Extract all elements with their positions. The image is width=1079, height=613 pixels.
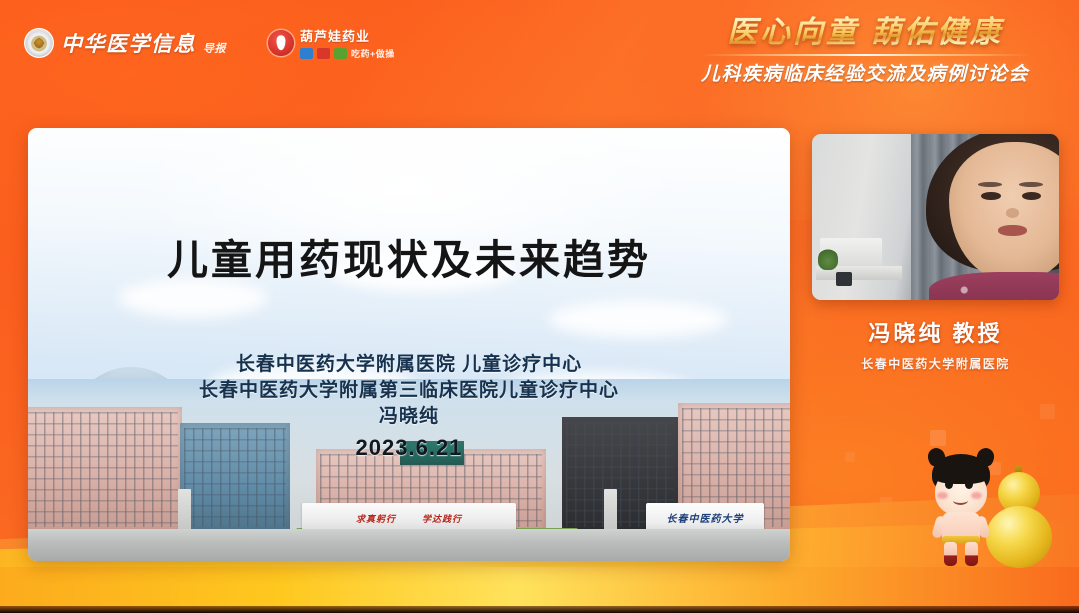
speaker-eye-left [981, 192, 1001, 200]
video-speaker-figure [926, 134, 1059, 300]
event-banner-title: 医心向童葫佑健康 [669, 16, 1061, 50]
event-banner-title-part1: 医心向童 [727, 16, 859, 49]
speaker-eye-right [1022, 192, 1042, 200]
slide-presenter-name: 冯晓纯 [199, 404, 619, 430]
mascot-smile [953, 496, 968, 505]
slide-date: 2023.6.21 [199, 433, 619, 463]
logo-huluwa: 葫芦娃药业 吃药+做操 [268, 26, 395, 60]
speaker-brow-right [1019, 182, 1043, 187]
speaker-mouth [998, 225, 1027, 236]
mascot-eye-left [945, 480, 953, 489]
logo-huluwa-tagline-row: 吃药+做操 [300, 47, 395, 60]
speaker-brow-left [978, 182, 1002, 187]
slide-text-layer: 儿童用药现状及未来趋势 长春中医药大学附属医院 儿童诊疗中心 长春中医药大学附属… [28, 128, 790, 561]
mascot-leg-right [965, 542, 978, 566]
speaker-caption: 冯晓纯 教授 长春中医药大学附属医院 [812, 316, 1059, 372]
mascot-eye-right [965, 480, 973, 489]
huluwa-mascot-icon [916, 438, 1058, 576]
mascot-child-figure [924, 454, 998, 570]
event-banner: 医心向童葫佑健康 儿科疾病临床经验交流及病例讨论会 [669, 16, 1061, 86]
event-banner-subtitle: 儿科疾病临床经验交流及病例讨论会 [669, 59, 1061, 86]
presentation-slide[interactable]: 求真躬行 学达践行 长春中医药大学 儿童用药现状及未来趋势 长春中医药大学附属医… [28, 128, 790, 561]
slide-subtitle-line: 长春中医药大学附属医院 儿童诊疗中心 [199, 352, 619, 378]
chip-green-icon [334, 48, 347, 59]
logo-cma: 中华医学信息 导报 [24, 28, 226, 58]
video-plant [818, 248, 838, 270]
decorative-square [1040, 404, 1055, 419]
bottom-edge-shadow [0, 606, 1079, 613]
mascot-leg-left [944, 542, 957, 566]
slide-title: 儿童用药现状及未来趋势 [167, 226, 651, 286]
mascot-cheek-right [971, 492, 982, 499]
banner-divider [700, 54, 1030, 56]
header-logo-group: 中华医学信息 导报 葫芦娃药业 吃药+做操 [24, 26, 395, 60]
logo-huluwa-tagline: 吃药+做操 [351, 47, 395, 60]
speaker-name: 冯晓纯 教授 [812, 316, 1059, 348]
speaker-video-tile[interactable] [812, 134, 1059, 300]
mascot-cheek-left [937, 492, 948, 499]
mascot-bangs [935, 466, 987, 484]
slide-subtitle-line: 长春中医药大学附属第三临床医院儿童诊疗中心 [199, 378, 619, 404]
video-dark-box [836, 272, 852, 286]
logo-cma-suffix: 导报 [203, 40, 226, 58]
speaker-shirt [929, 272, 1059, 300]
logo-huluwa-wordmark: 葫芦娃药业 [300, 26, 395, 45]
logo-huluwa-texts: 葫芦娃药业 吃药+做操 [300, 26, 395, 60]
chip-blue-icon [300, 48, 313, 59]
cma-seal-icon [24, 28, 54, 58]
logo-cma-wordmark: 中华医学信息 [61, 28, 196, 58]
webinar-stage: 中华医学信息 导报 葫芦娃药业 吃药+做操 医心向童葫佑健康 儿科疾病临床经验交… [0, 0, 1079, 613]
decorative-square [845, 452, 855, 462]
slide-subtitle-block: 长春中医药大学附属医院 儿童诊疗中心 长春中医药大学附属第三临床医院儿童诊疗中心… [199, 352, 619, 463]
event-banner-title-part2: 葫佑健康 [871, 16, 1003, 49]
speaker-nose [1006, 208, 1019, 218]
speaker-organization: 长春中医药大学附属医院 [812, 355, 1059, 372]
huluwa-badge-icon [268, 30, 294, 56]
chip-red-icon [317, 48, 330, 59]
